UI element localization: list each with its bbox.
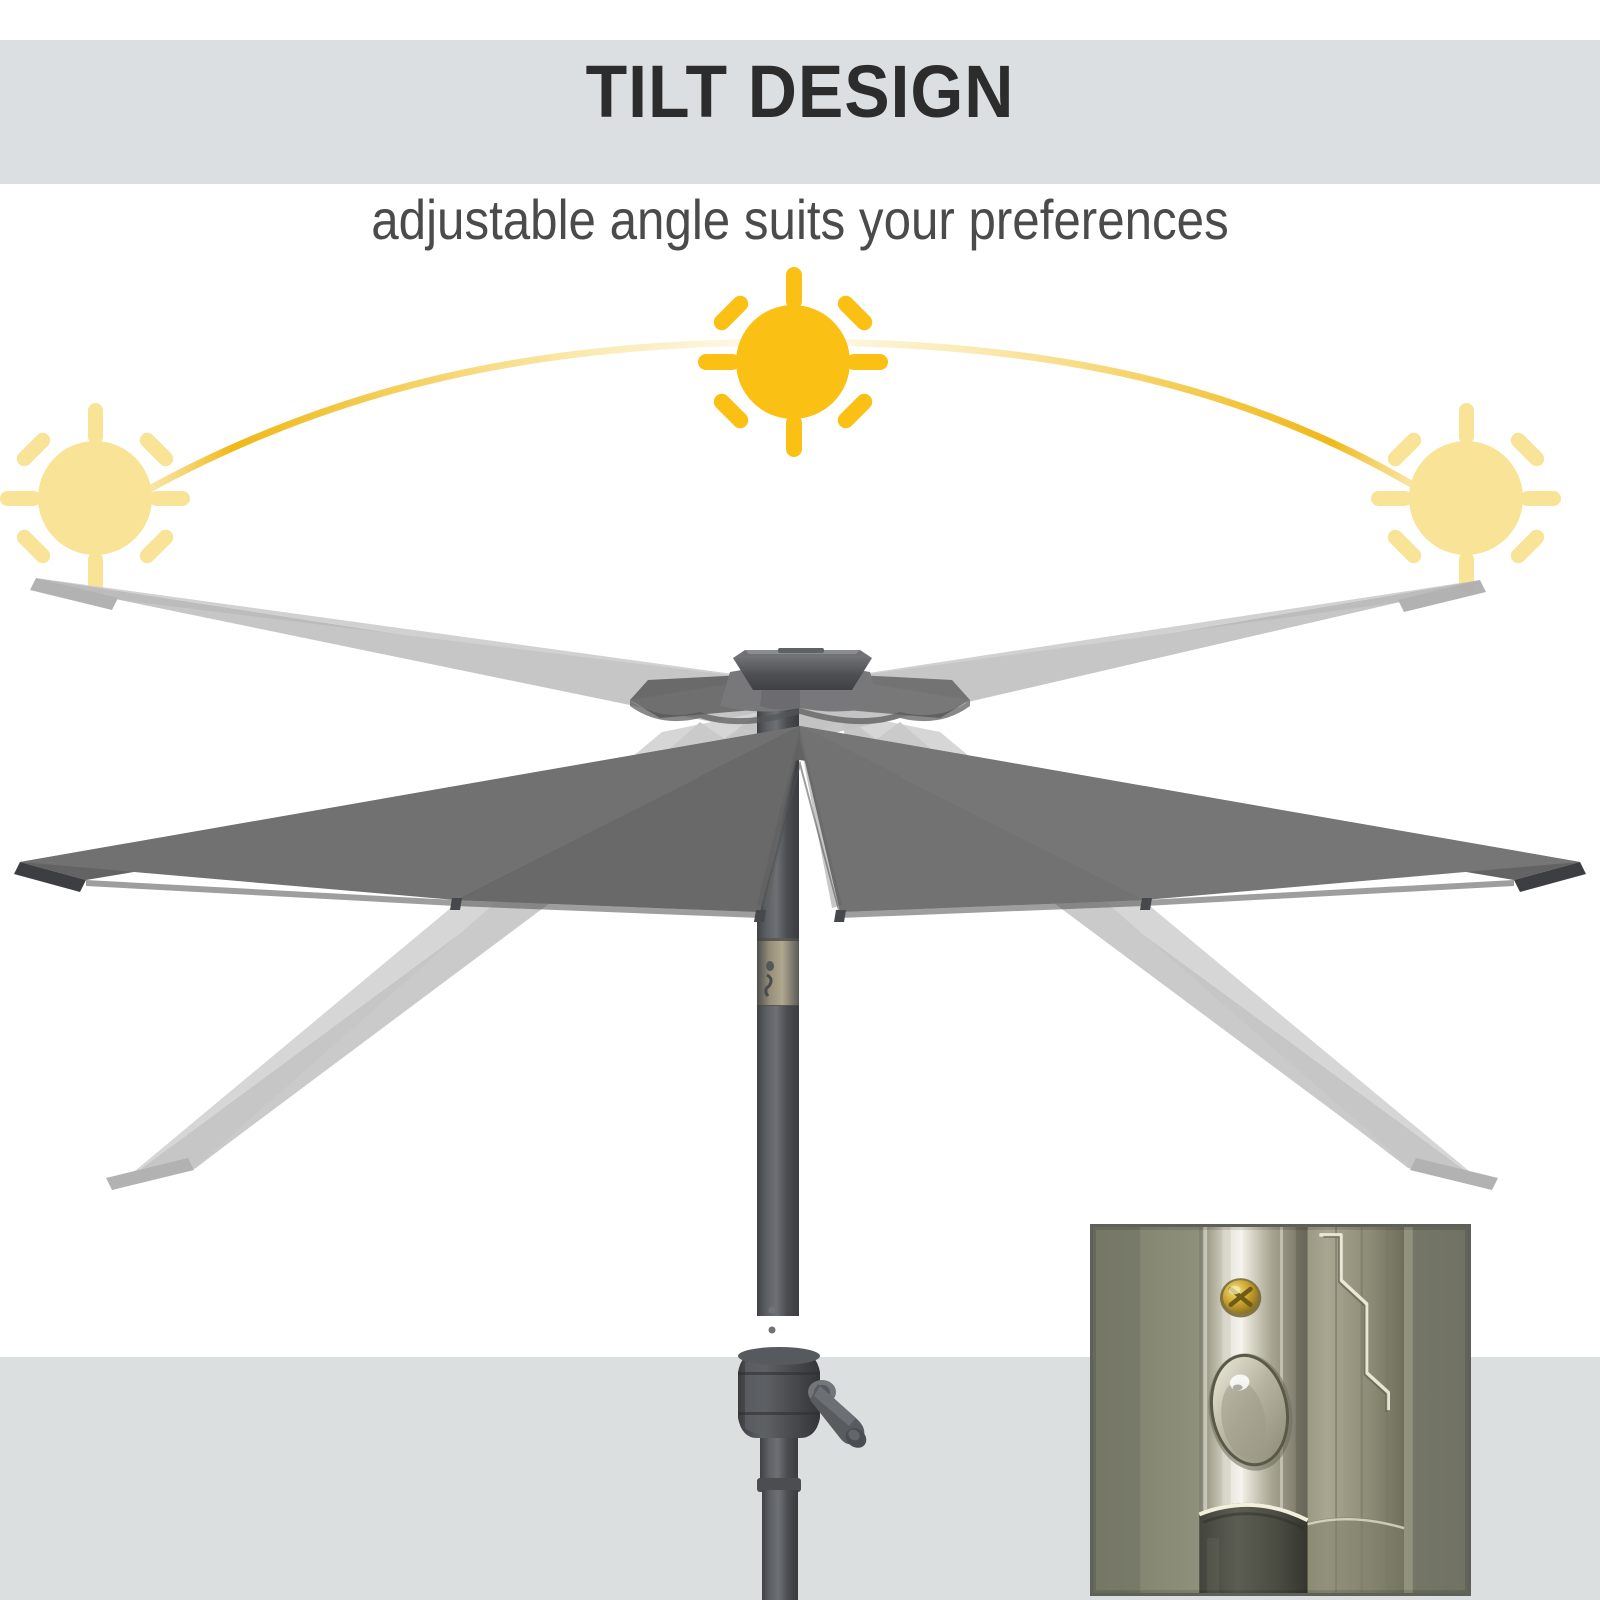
canopy-hub-cap	[733, 648, 872, 690]
infographic-canvas: TILT DESIGN adjustable angle suits your …	[0, 0, 1600, 1600]
tilt-joint	[757, 938, 799, 1009]
lower-pole-sleeve	[1199, 1503, 1307, 1593]
detail-inset-photo	[1090, 1224, 1471, 1596]
tilt-mechanism-photo	[1093, 1227, 1468, 1593]
crank-assembly	[738, 1347, 870, 1600]
brass-screw-icon	[1220, 1278, 1261, 1317]
umbrella-canopy	[14, 726, 1586, 922]
